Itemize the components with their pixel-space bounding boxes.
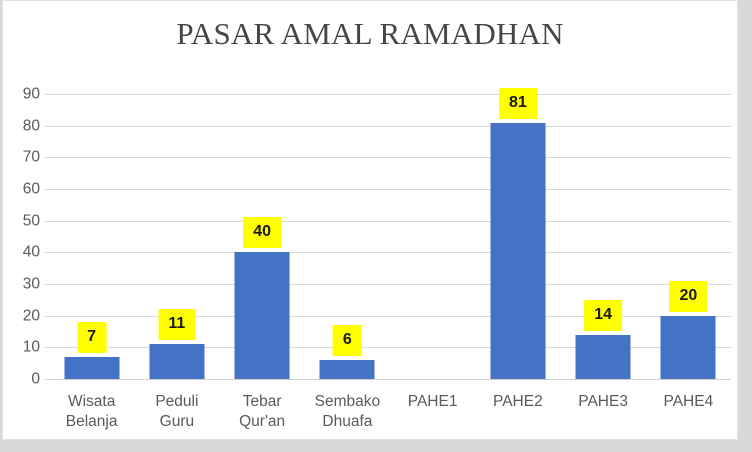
x-axis-category-label: TebarQur'an <box>239 392 285 432</box>
bar[interactable] <box>235 252 290 379</box>
bar[interactable] <box>576 335 631 379</box>
bar[interactable] <box>149 344 204 379</box>
x-axis-category-label: PAHE4 <box>664 392 714 412</box>
y-axis-tick-label: 80 <box>23 118 40 134</box>
y-axis-tick-label: 90 <box>23 86 40 102</box>
x-axis-category-label: PAHE1 <box>408 392 458 412</box>
chart-title: PASAR AMAL RAMADHAN <box>3 15 737 53</box>
bar[interactable] <box>490 123 545 380</box>
bar-slot[interactable]: 7WisataBelanja <box>49 94 134 379</box>
y-axis-tick-label: 50 <box>23 213 40 229</box>
bar-slot[interactable]: 81PAHE2 <box>475 94 560 379</box>
bar-data-label: 14 <box>584 300 622 331</box>
bar-data-label: 6 <box>333 325 362 356</box>
bar-data-label: 7 <box>77 322 106 353</box>
bar[interactable] <box>320 360 375 379</box>
chart-container[interactable]: PASAR AMAL RAMADHAN 9080706050403020100 … <box>2 0 738 440</box>
bar-data-label: 20 <box>669 281 707 312</box>
y-axis-tick-label: 0 <box>31 371 40 387</box>
x-axis-category-label: SembakoDhuafa <box>315 392 380 432</box>
y-axis-tick-label: 20 <box>23 308 40 324</box>
bar-slot[interactable]: 14PAHE3 <box>561 94 646 379</box>
bar-slot[interactable]: 11PeduliGuru <box>134 94 219 379</box>
x-axis-category-label: PAHE3 <box>578 392 628 412</box>
x-axis-category-label: PAHE2 <box>493 392 543 412</box>
bar-slot[interactable]: PAHE1 <box>390 94 475 379</box>
bar-slot[interactable]: 6SembakoDhuafa <box>305 94 390 379</box>
y-axis-tick-label: 40 <box>23 245 40 261</box>
plot-area[interactable]: 9080706050403020100 7WisataBelanja11Pedu… <box>49 94 731 379</box>
bar-data-label: 40 <box>243 217 281 248</box>
bar-data-label: 81 <box>499 88 537 119</box>
gridline <box>49 379 731 380</box>
y-axis-tick-label: 30 <box>23 276 40 292</box>
y-axis-tick-label: 10 <box>23 340 40 356</box>
y-axis-tick-label: 70 <box>23 150 40 166</box>
y-axis-tick-label: 60 <box>23 181 40 197</box>
y-axis-tickmark <box>44 379 49 380</box>
bar-series[interactable]: 7WisataBelanja11PeduliGuru40TebarQur'an6… <box>49 94 731 379</box>
bar-slot[interactable]: 20PAHE4 <box>646 94 731 379</box>
bar[interactable] <box>661 316 716 379</box>
bar-data-label: 11 <box>158 309 195 340</box>
x-axis-category-label: PeduliGuru <box>155 392 198 432</box>
x-axis-category-label: WisataBelanja <box>66 392 118 432</box>
bar-slot[interactable]: 40TebarQur'an <box>220 94 305 379</box>
bar[interactable] <box>64 357 119 379</box>
